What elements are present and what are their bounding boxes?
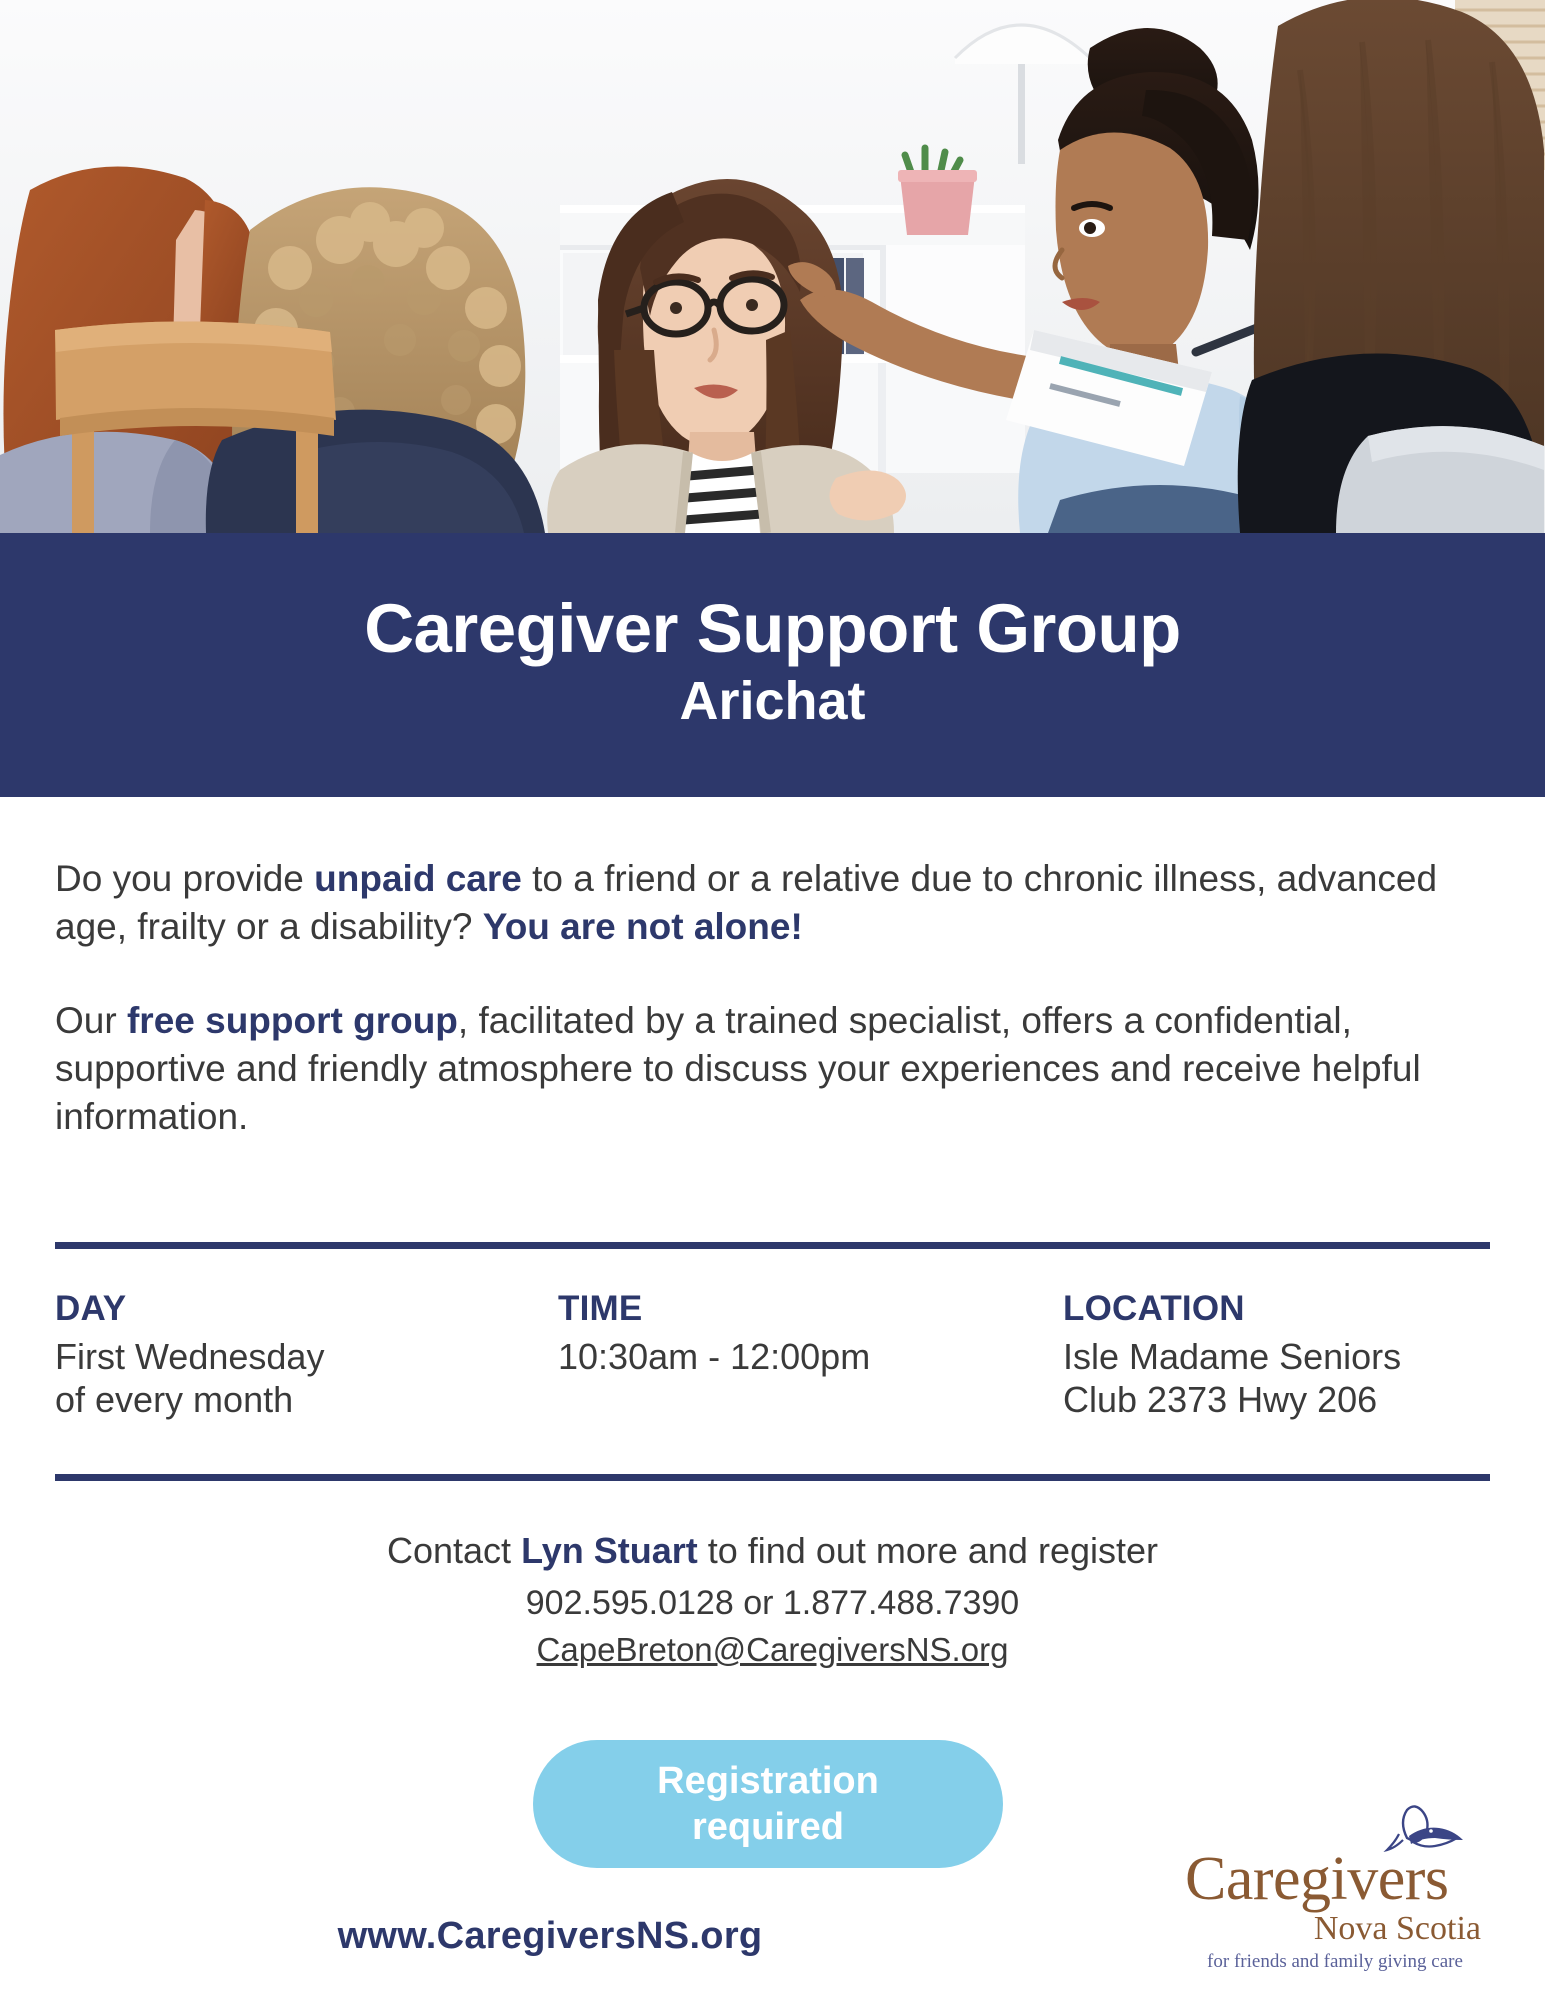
contact-block: Contact Lyn Stuart to find out more and … (0, 1528, 1545, 1672)
contact-prefix: Contact (387, 1530, 521, 1571)
logo-region: Nova Scotia (1185, 1912, 1485, 1946)
detail-column-location: LOCATION Isle Madame Seniors Club 2373 H… (1063, 1290, 1401, 1422)
detail-column-day: DAY First Wednesday of every month (55, 1290, 324, 1422)
detail-label-location: LOCATION (1063, 1290, 1401, 1329)
contact-person-line: Contact Lyn Stuart to find out more and … (0, 1528, 1545, 1573)
contact-phone-numbers[interactable]: 902.595.0128 or 1.877.488.7390 (0, 1581, 1545, 1625)
detail-value-time: 10:30am - 12:00pm (558, 1335, 870, 1379)
p2-part1: Our (55, 1000, 127, 1041)
p1-part1: Do you provide (55, 858, 314, 899)
registration-required-label: Registration required (657, 1758, 879, 1851)
caregivers-nova-scotia-logo: Caregivers Nova Scotia for friends and f… (1185, 1800, 1485, 1980)
detail-label-time: TIME (558, 1290, 870, 1329)
detail-value-day: First Wednesday of every month (55, 1335, 324, 1423)
p2-bold-free-support-group: free support group (127, 1000, 458, 1041)
body-copy: Do you provide unpaid care to a friend o… (55, 855, 1445, 1141)
divider-top (55, 1242, 1490, 1249)
p1-bold-not-alone: You are not alone! (483, 906, 803, 947)
paragraph-one: Do you provide unpaid care to a friend o… (55, 855, 1445, 951)
contact-email-link[interactable]: CapeBreton@CaregiversNS.org (537, 1629, 1009, 1672)
paragraph-two: Our free support group, facilitated by a… (55, 997, 1445, 1141)
details-row: DAY First Wednesday of every month TIME … (55, 1290, 1490, 1460)
title-banner: Caregiver Support Group Arichat (0, 533, 1545, 797)
contact-person-name: Lyn Stuart (521, 1530, 698, 1571)
page-subtitle: Arichat (679, 672, 865, 731)
hero-photo-illustration (0, 0, 1545, 533)
detail-value-location: Isle Madame Seniors Club 2373 Hwy 206 (1063, 1335, 1401, 1423)
detail-label-day: DAY (55, 1290, 324, 1329)
contact-suffix: to find out more and register (698, 1530, 1158, 1571)
page-title: Caregiver Support Group (364, 593, 1181, 665)
p1-bold-unpaid-care: unpaid care (314, 858, 522, 899)
hero-photo (0, 0, 1545, 533)
detail-column-time: TIME 10:30am - 12:00pm (558, 1290, 870, 1378)
divider-bottom (55, 1474, 1490, 1481)
registration-required-badge[interactable]: Registration required (533, 1740, 1003, 1868)
logo-wordmark: Caregivers (1185, 1848, 1485, 1910)
logo-tagline: for friends and family giving care (1185, 1952, 1485, 1971)
website-url[interactable]: www.CaregiversNS.org (0, 1915, 1100, 1958)
